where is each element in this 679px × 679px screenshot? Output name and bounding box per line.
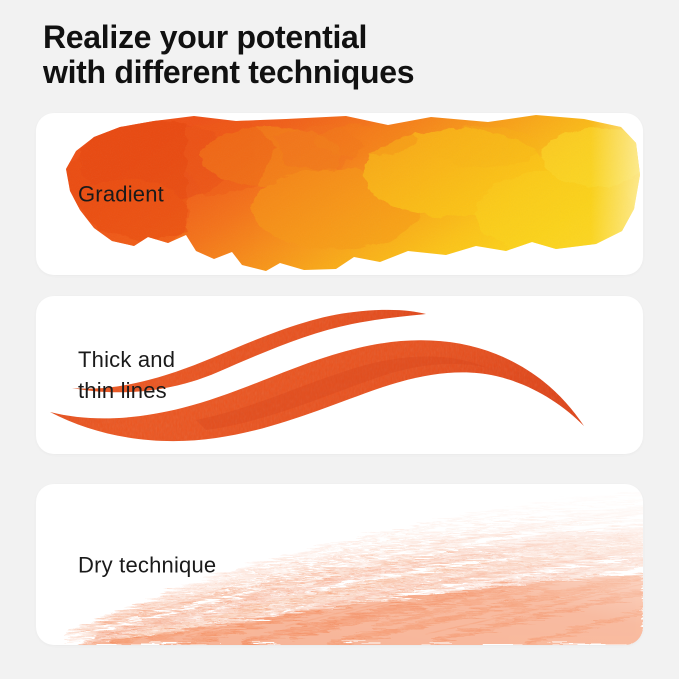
card-label-lines: Thick and thin lines	[78, 344, 175, 406]
card-label-dry: Dry technique	[78, 549, 216, 580]
card-label-gradient: Gradient	[78, 179, 164, 210]
page-title-line-1: Realize your potential	[43, 20, 643, 55]
poster-canvas: Realize your potential with different te…	[0, 0, 679, 679]
page-title: Realize your potential with different te…	[43, 20, 643, 90]
page-title-line-2: with different techniques	[43, 55, 643, 90]
technique-card-gradient[interactable]: Gradient	[36, 113, 643, 275]
technique-card-lines[interactable]: Thick and thin lines	[36, 296, 643, 454]
technique-card-dry[interactable]: Dry technique	[36, 484, 643, 645]
